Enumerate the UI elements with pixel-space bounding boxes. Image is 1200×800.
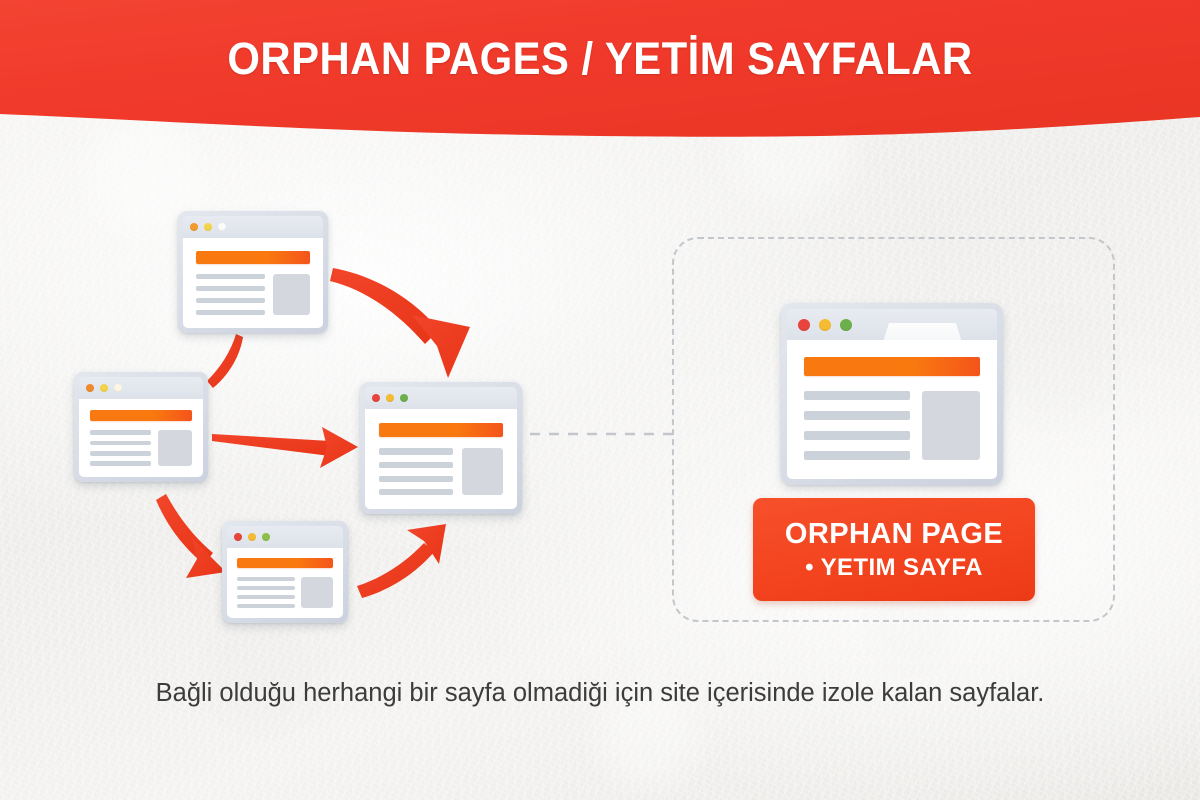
header-banner: ORPHAN PAGES / YETİM SAYFALAR <box>0 0 1200 145</box>
content-hero-bar <box>804 357 980 377</box>
content-line <box>90 451 151 456</box>
content-image-block <box>922 391 980 461</box>
content-text-lines <box>379 448 454 495</box>
content-line <box>379 476 454 482</box>
orphan-page-window[interactable] <box>781 303 1003 485</box>
content-line <box>237 586 294 590</box>
content-line <box>804 451 910 460</box>
content-line <box>804 411 910 420</box>
window-titlebar <box>787 309 997 340</box>
content-line <box>90 441 151 446</box>
linked-page-top[interactable] <box>178 211 328 333</box>
content-text-lines <box>90 430 151 465</box>
content-line <box>237 577 294 581</box>
content-line <box>237 604 294 608</box>
dot-red-icon <box>372 394 380 402</box>
content-line <box>196 310 265 315</box>
dot-orange-icon <box>190 223 198 231</box>
dot-yellow-icon <box>386 394 394 402</box>
content-image-block <box>301 577 332 608</box>
content-line <box>90 430 151 435</box>
orphan-badge-subtitle: • YETIM SAYFA <box>805 554 983 582</box>
orphan-page-badge: ORPHAN PAGE • YETIM SAYFA <box>753 498 1035 601</box>
content-text-lines <box>804 391 910 461</box>
window-content <box>79 399 203 477</box>
content-hero-bar <box>237 558 332 568</box>
content-columns <box>804 391 980 461</box>
content-line <box>804 431 910 440</box>
content-image-block <box>462 448 503 495</box>
content-hero-bar <box>90 410 192 421</box>
window-titlebar <box>365 387 517 409</box>
dot-yellow-icon <box>204 223 212 231</box>
content-hero-bar <box>196 251 311 264</box>
content-columns <box>90 430 192 465</box>
window-titlebar <box>183 216 323 238</box>
dot-yellow-icon <box>100 384 108 392</box>
dot-green-icon <box>262 533 270 541</box>
content-line <box>196 274 265 279</box>
content-image-block <box>158 430 192 465</box>
dot-green-icon <box>400 394 408 402</box>
dot-red-icon <box>798 319 810 331</box>
content-text-lines <box>237 577 294 608</box>
dot-white-icon <box>114 384 122 392</box>
infographic-canvas: ORPHAN PAGES / YETİM SAYFALAR <box>0 0 1200 800</box>
content-hero-bar <box>379 423 504 438</box>
window-content <box>787 340 997 479</box>
browser-tab[interactable] <box>884 323 962 340</box>
window-titlebar <box>79 377 203 399</box>
content-image-block <box>273 274 311 316</box>
dot-green-icon <box>840 319 852 331</box>
content-line <box>379 489 454 495</box>
linked-page-middle[interactable] <box>360 382 522 514</box>
window-content <box>227 548 343 618</box>
dot-yellow-icon <box>248 533 256 541</box>
content-line <box>804 391 910 400</box>
content-line <box>379 448 454 454</box>
window-titlebar <box>227 526 343 548</box>
dot-orange-icon <box>86 384 94 392</box>
window-content <box>183 238 323 328</box>
content-columns <box>379 448 504 495</box>
content-line <box>196 298 265 303</box>
content-columns <box>237 577 332 608</box>
orphan-badge-title: ORPHAN PAGE <box>785 518 1003 551</box>
linked-page-bottom[interactable] <box>222 521 348 623</box>
content-line <box>196 286 265 291</box>
window-content <box>365 409 517 509</box>
content-line <box>237 595 294 599</box>
dot-white-icon <box>218 223 226 231</box>
content-line <box>90 461 151 466</box>
dot-red-icon <box>234 533 242 541</box>
content-line <box>379 462 454 468</box>
linked-page-left[interactable] <box>74 372 208 482</box>
caption-text: Bağli olduğu herhangi bir sayfa olmadiği… <box>0 679 1200 708</box>
content-text-lines <box>196 274 265 316</box>
page-title: ORPHAN PAGES / YETİM SAYFALAR <box>42 0 1158 118</box>
dot-yellow-icon <box>819 319 831 331</box>
content-columns <box>196 274 311 316</box>
